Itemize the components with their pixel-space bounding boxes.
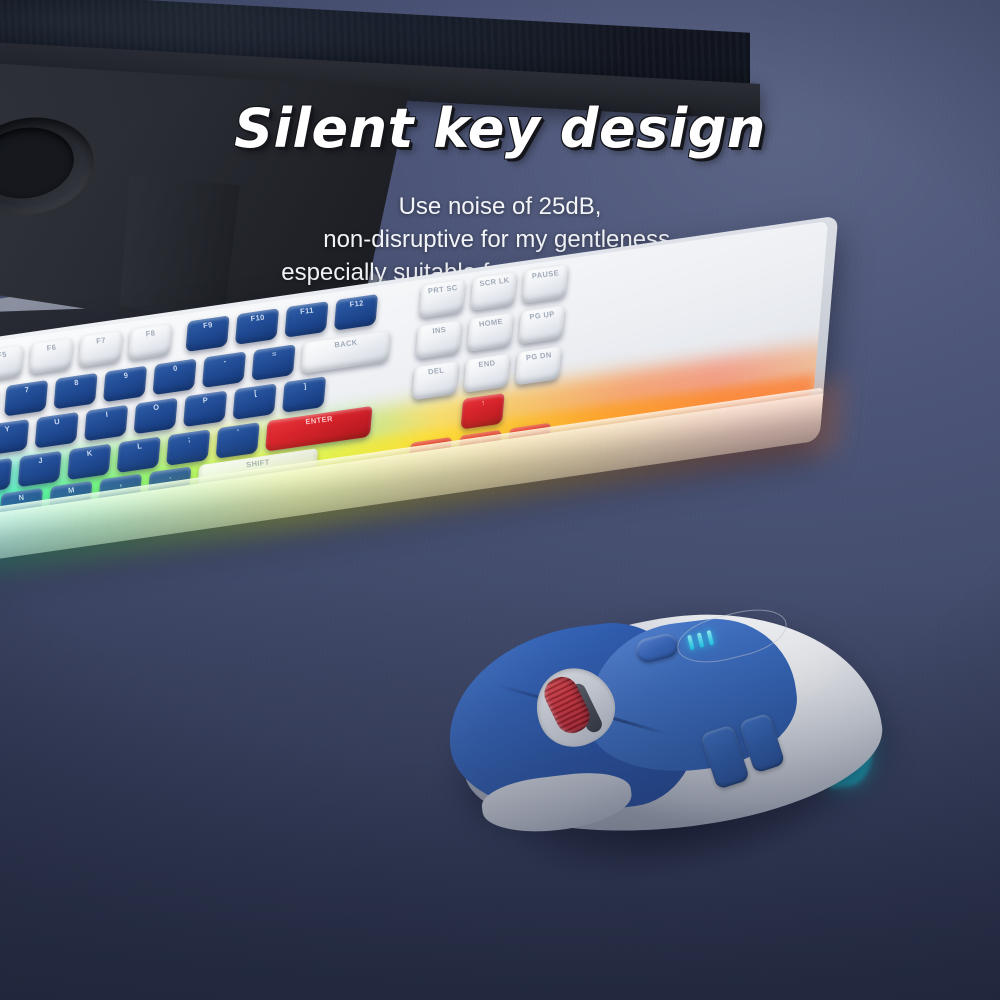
desk-bottom-falloff	[0, 580, 1000, 1000]
page-title: Silent key design	[0, 97, 1000, 160]
product-promo-image: Silent key design Use noise of 25dB, non…	[0, 0, 1000, 1000]
